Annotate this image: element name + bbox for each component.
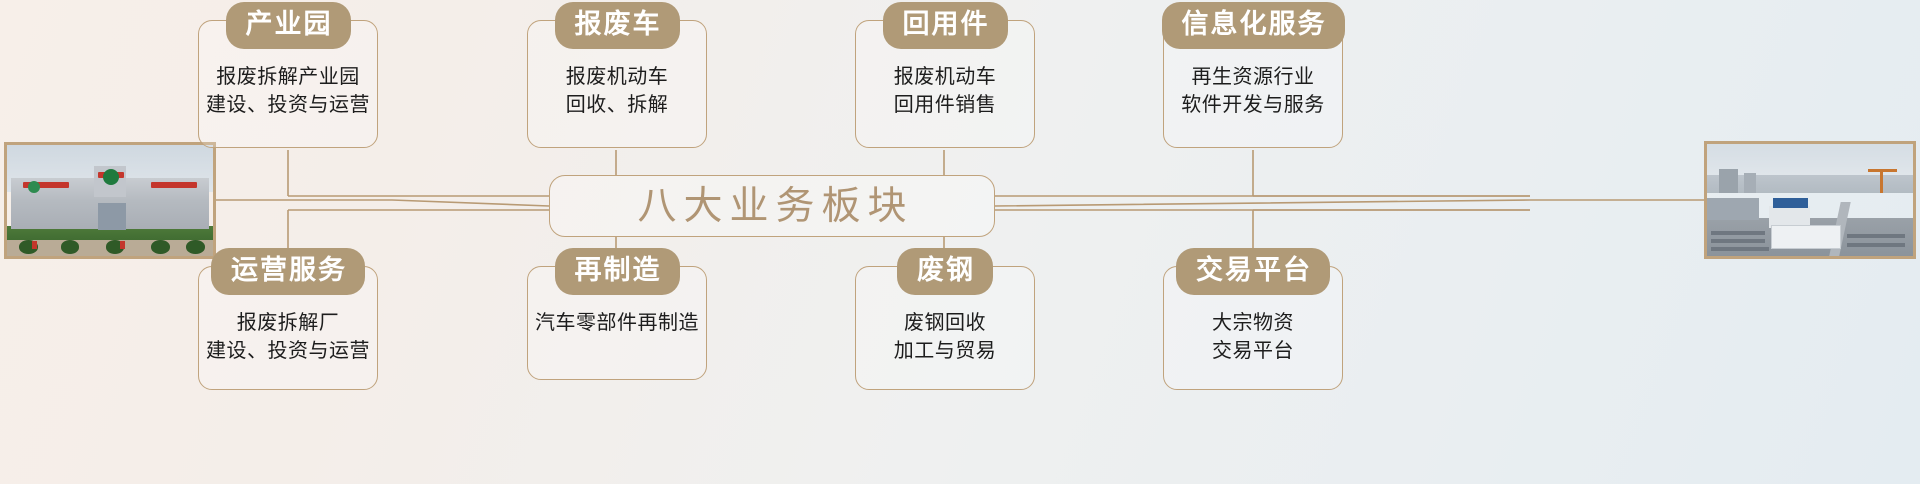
photo-warehouse-hall	[1707, 198, 1759, 220]
photo-shrub	[186, 240, 205, 253]
segment-description: 大宗物资 交易平台	[1212, 309, 1294, 366]
segment-description: 报废拆解厂 建设、投资与运营	[206, 309, 370, 366]
segment-description: 废钢回收 加工与贸易	[894, 309, 997, 366]
segment-card-information-services[interactable]: 信息化服务 再生资源行业 软件开发与服务	[1163, 20, 1343, 148]
segment-card-operation-services[interactable]: 运营服务 报废拆解厂 建设、投资与运营	[198, 266, 378, 390]
segment-card-trading-platform[interactable]: 交易平台 大宗物资 交易平台	[1163, 266, 1343, 390]
photo-shrub	[61, 240, 80, 253]
segment-description: 报废机动车 回收、拆解	[566, 63, 669, 120]
photo-office-block	[1771, 225, 1841, 250]
segment-description: 再生资源行业 软件开发与服务	[1181, 63, 1325, 120]
photo-car-row	[1847, 243, 1905, 247]
segment-title-badge: 交易平台	[1176, 248, 1330, 295]
photo-shrub	[151, 240, 170, 253]
photo-car-row	[1711, 247, 1769, 251]
segment-description: 报废拆解产业园 建设、投资与运营	[206, 63, 370, 120]
segment-card-scrap-vehicle[interactable]: 报废车 报废机动车 回收、拆解	[527, 20, 707, 148]
photo-car-row	[1711, 239, 1765, 243]
photo-sign-right	[151, 182, 196, 188]
segment-card-reusable-parts[interactable]: 回用件 报废机动车 回用件销售	[855, 20, 1035, 148]
central-hub[interactable]: 八大业务板块	[549, 175, 995, 237]
photo-car-row	[1711, 231, 1765, 235]
photo-silo	[1719, 169, 1738, 194]
segment-description: 报废机动车 回用件销售	[894, 63, 997, 120]
segment-card-remanufacturing[interactable]: 再制造 汽车零部件再制造	[527, 266, 707, 380]
photo-logo-secondary-icon	[28, 181, 40, 193]
segment-card-scrap-steel[interactable]: 废钢 废钢回收 加工与贸易	[855, 266, 1035, 390]
photo-flag	[32, 241, 37, 249]
photo-car-row	[1847, 234, 1905, 238]
segment-title-badge: 报废车	[555, 2, 680, 49]
segment-description: 汽车零部件再制造	[535, 309, 699, 337]
photo-crane-mast	[1880, 169, 1883, 194]
business-segments-diagram: 八大业务板块 产业园 报废拆解产业园 建设、投资与运营 报废车 报废机动车 回收…	[0, 0, 1920, 484]
segment-title-badge: 信息化服务	[1162, 2, 1345, 49]
photo-flag	[120, 241, 125, 249]
segment-title-badge: 废钢	[897, 248, 993, 295]
photo-silo	[1744, 173, 1756, 193]
segment-title-badge: 再制造	[555, 248, 680, 295]
segment-title-badge: 运营服务	[211, 248, 365, 295]
hub-label: 八大业务板块	[630, 187, 913, 226]
headquarters-building-photo	[4, 142, 216, 259]
segment-title-badge: 回用件	[883, 2, 1008, 49]
segment-title-badge: 产业园	[226, 2, 351, 49]
photo-entrance-glass	[98, 203, 127, 231]
photo-crane-arm	[1868, 169, 1897, 172]
industrial-park-aerial-photo	[1704, 141, 1916, 259]
photo-blue-roof	[1773, 198, 1808, 208]
segment-card-industrial-park[interactable]: 产业园 报废拆解产业园 建设、投资与运营	[198, 20, 378, 148]
